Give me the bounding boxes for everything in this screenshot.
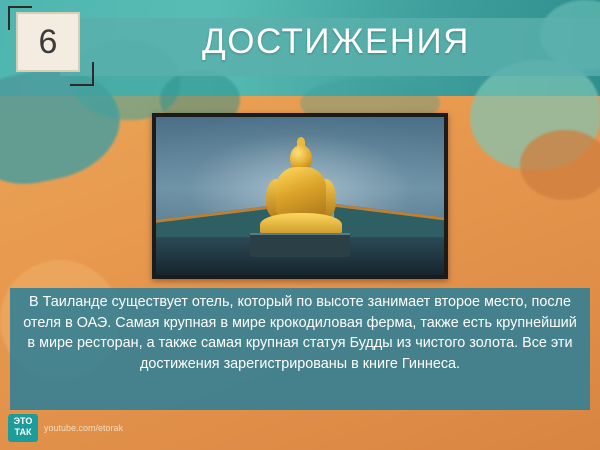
page-title: ДОСТИЖЕНИЯ xyxy=(86,22,586,62)
channel-logo-line1: ЭТО xyxy=(8,416,38,427)
body-text: В Таиланде существует отель, который по … xyxy=(22,292,578,374)
slide-number: 6 xyxy=(16,12,80,72)
presentation-slide: ДОСТИЖЕНИЯ 6 В Таиланде существует отель… xyxy=(0,0,600,450)
channel-url[interactable]: youtube.com/etorak xyxy=(44,423,123,433)
buddha-torso xyxy=(276,167,326,219)
buddha-statue-image xyxy=(156,117,444,275)
channel-logo-line2: ТАК xyxy=(8,427,38,438)
image-plinth xyxy=(250,233,350,257)
background-blob xyxy=(520,130,600,200)
